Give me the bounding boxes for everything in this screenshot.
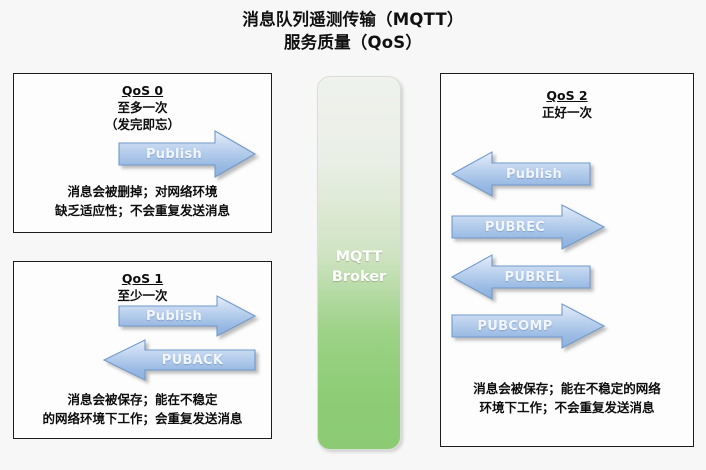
- qos0-subtitle: 至多一次: [14, 99, 271, 116]
- qos1-description-line-2: 的网络环境下工作；会重复发送消息: [14, 409, 271, 428]
- qos2-subtitle: 正好一次: [441, 104, 693, 121]
- qos0-description-line-1: 消息会被删掉；对网络环境: [14, 182, 271, 201]
- mqtt-broker-shape: MQTT Broker: [317, 76, 401, 450]
- arrow-qos2-publish: Publish: [452, 152, 590, 196]
- qos0-title: QoS 0: [14, 82, 271, 99]
- qos2-description-line-2: 环境下工作；不会重复发送消息: [441, 398, 693, 417]
- qos1-title: QoS 1: [14, 270, 271, 287]
- arrow-shape-right: [452, 205, 604, 249]
- mqtt-broker-label: MQTT Broker: [318, 247, 400, 287]
- qos1-description-line-1: 消息会被保存；能在不稳定: [14, 390, 271, 409]
- arrow-qos2-pubrel: PUBREL: [452, 255, 590, 299]
- broker-label-line-2: Broker: [318, 267, 400, 287]
- arrow-qos1-puback: PUBACK: [104, 340, 255, 380]
- arrow-shape-right: [119, 131, 255, 177]
- arrow-shape-left: [452, 255, 590, 299]
- qos0-heading: QoS 0 至多一次 （发完即忘）: [14, 82, 271, 133]
- arrow-shape-right: [452, 304, 604, 348]
- diagram-canvas: 消息队列遥测传输（MQTT） 服务质量（QoS） MQTT Broker QoS: [0, 0, 706, 470]
- arrow-shape-left: [104, 340, 255, 380]
- qos0-description: 消息会被删掉；对网络环境 缺乏适应性；不会重复发送消息: [14, 182, 271, 220]
- qos1-description: 消息会被保存；能在不稳定 的网络环境下工作；会重复发送消息: [14, 390, 271, 428]
- qos2-description-line-1: 消息会被保存；能在不稳定的网络: [441, 379, 693, 398]
- page-title: 消息队列遥测传输（MQTT） 服务质量（QoS）: [0, 8, 706, 54]
- arrow-qos1-publish: Publish: [119, 296, 255, 336]
- qos2-title: QoS 2: [441, 87, 693, 104]
- title-line-2: 服务质量（QoS）: [0, 31, 706, 54]
- arrow-shape-right: [119, 296, 255, 336]
- qos0-description-line-2: 缺乏适应性；不会重复发送消息: [14, 201, 271, 220]
- arrow-shape-left: [452, 152, 590, 196]
- broker-label-line-1: MQTT: [318, 247, 400, 267]
- arrow-qos2-pubrec: PUBREC: [452, 205, 604, 249]
- arrow-qos0-publish: Publish: [119, 131, 255, 177]
- qos2-heading: QoS 2 正好一次: [441, 87, 693, 121]
- title-line-1: 消息队列遥测传输（MQTT）: [242, 10, 463, 29]
- arrow-qos2-pubcomp: PUBCOMP: [452, 304, 604, 348]
- qos2-description: 消息会被保存；能在不稳定的网络 环境下工作；不会重复发送消息: [441, 379, 693, 417]
